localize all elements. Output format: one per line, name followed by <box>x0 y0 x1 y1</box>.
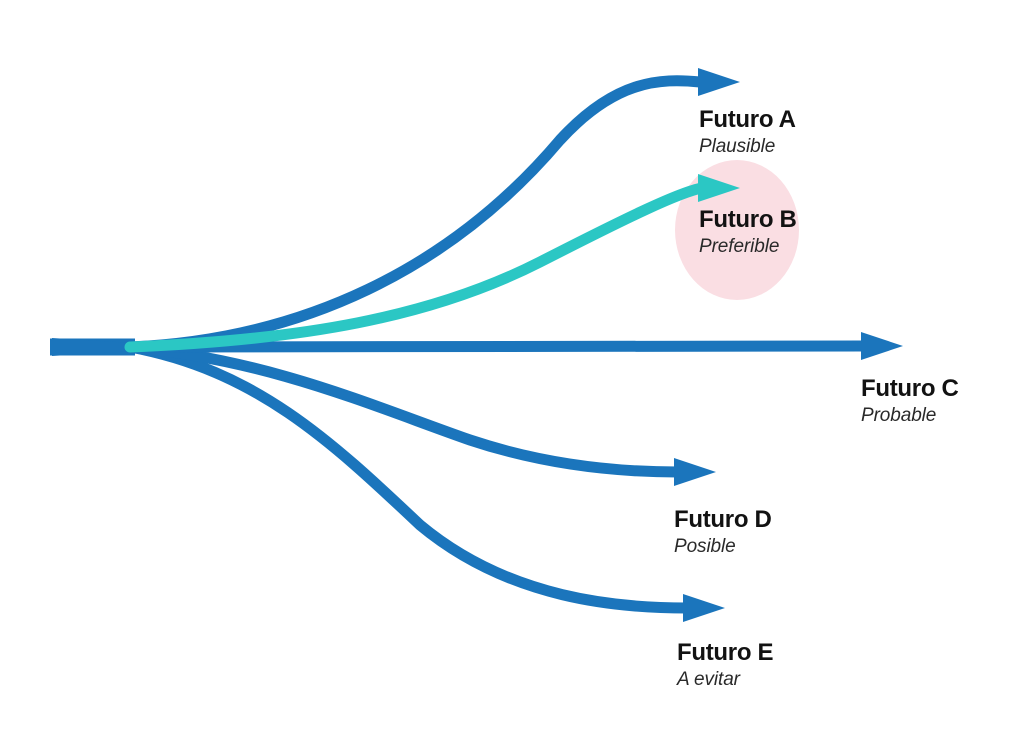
futuro-c-title: Futuro C <box>861 377 959 401</box>
futuro-a-subtitle: Plausible <box>699 137 796 156</box>
futures-cone-diagram: Futuro A Plausible Futuro B Preferible F… <box>0 0 1024 756</box>
futuro-d-title: Futuro D <box>674 508 772 532</box>
futuro-b-title: Futuro B <box>699 208 797 232</box>
futuro-a-title: Futuro A <box>699 108 796 132</box>
branch-futuro-c-arrowhead <box>861 332 903 360</box>
label-futuro-c: Futuro C Probable <box>861 377 959 425</box>
label-futuro-b: Futuro B Preferible <box>699 208 797 256</box>
futuro-e-title: Futuro E <box>677 641 773 665</box>
branch-futuro-d-arrowhead <box>674 458 716 486</box>
futuro-d-subtitle: Posible <box>674 537 772 556</box>
branch-futuro-d <box>130 347 716 486</box>
branch-futuro-e <box>130 347 725 622</box>
label-futuro-a: Futuro A Plausible <box>699 108 796 156</box>
branch-futuro-c-line <box>130 346 865 347</box>
futuro-c-subtitle: Probable <box>861 406 959 425</box>
branch-futuro-e-curve <box>130 347 687 608</box>
label-futuro-e: Futuro E A evitar <box>677 641 773 689</box>
branch-futuro-b <box>130 174 740 347</box>
futuro-e-subtitle: A evitar <box>677 670 773 689</box>
futuro-b-subtitle: Preferible <box>699 237 797 256</box>
label-futuro-d: Futuro D Posible <box>674 508 772 556</box>
branch-futuro-e-arrowhead <box>683 594 725 622</box>
branch-futuro-a-arrowhead <box>698 68 740 96</box>
